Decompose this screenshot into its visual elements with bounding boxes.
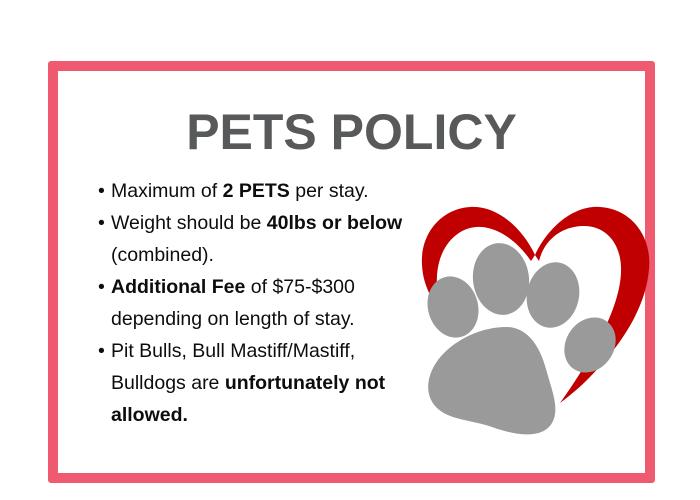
list-item-additional-fee: •Additional Fee of $75-$300 depending on… [98,271,428,335]
bullet-dot-icon: • [98,175,105,207]
emphasis-text: 40lbs or below [267,212,402,234]
plain-text: (combined). [111,244,214,266]
plain-text: Maximum of [111,180,223,202]
emphasis-text: Additional Fee [111,276,245,298]
list-item-weight-limit: •Weight should be 40lbs or below (combin… [98,207,428,271]
list-item-label: Pit Bulls, Bull Mastiff/Mastiff, Bulldog… [111,340,385,426]
pets-policy-poster: PETS POLICY •Maximum of 2 PETS per stay.… [0,0,700,500]
heart-shape [422,207,649,403]
bullet-dot-icon: • [98,207,105,239]
list-item-label: Additional Fee of $75-$300 depending on … [111,276,355,330]
plain-text: per stay. [290,180,369,202]
list-item-breed-restrictions: •Pit Bulls, Bull Mastiff/Mastiff, Bulldo… [98,335,428,431]
plain-text: Weight should be [111,212,267,234]
poster-frame: PETS POLICY •Maximum of 2 PETS per stay.… [48,61,655,483]
bullet-dot-icon: • [98,335,105,367]
bullet-dot-icon: • [98,271,105,303]
heart-paw-icon [410,197,660,437]
policy-list: •Maximum of 2 PETS per stay.•Weight shou… [98,175,428,431]
page-title: PETS POLICY [58,107,645,157]
list-item-label: Maximum of 2 PETS per stay. [111,180,369,202]
emphasis-text: 2 PETS [223,180,290,202]
list-item-label: Weight should be 40lbs or below (combine… [111,212,402,266]
paw-shape [420,240,626,435]
list-item-max-pets: •Maximum of 2 PETS per stay. [98,175,428,207]
